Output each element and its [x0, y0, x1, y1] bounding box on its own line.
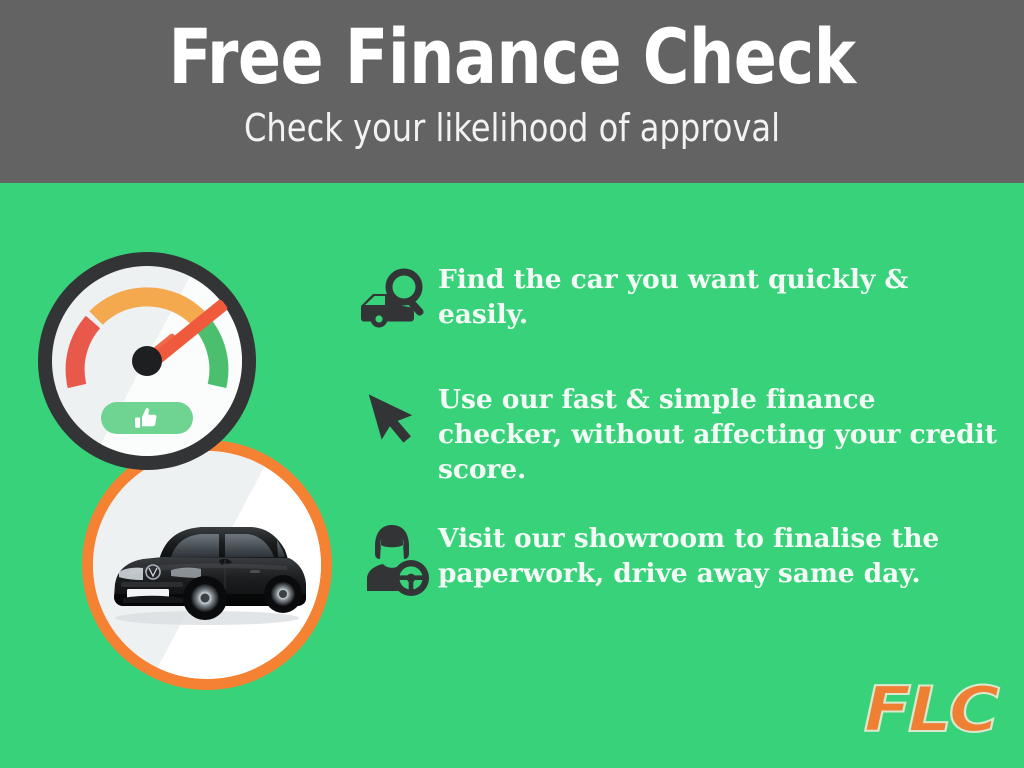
black-hatchback-photo	[101, 510, 313, 628]
feature-item-finance-checker: Use our fast & simple finance checker, w…	[352, 378, 1002, 487]
flc-logo: FLC	[863, 673, 996, 746]
page-title: Free Finance Check	[36, 0, 988, 100]
feature-list: Find the car you want quickly & easily. …	[352, 258, 1002, 637]
feature-text: Use our fast & simple finance checker, w…	[438, 378, 1002, 487]
car-photo-circle	[82, 440, 332, 690]
approval-likelihood-gauge	[38, 252, 256, 470]
feature-icon-wrap	[352, 258, 438, 348]
header-banner: Free Finance Check Check your likelihood…	[0, 0, 1024, 183]
feature-text: Find the car you want quickly & easily.	[438, 258, 1002, 332]
page-subtitle: Check your likelihood of approval	[31, 100, 994, 150]
feature-icon-wrap	[352, 378, 438, 468]
feature-item-showroom-visit: Visit our showroom to finalise the paper…	[352, 517, 1002, 607]
promo-poster: Free Finance Check Check your likelihood…	[0, 0, 1024, 768]
cursor-arrow-icon	[362, 382, 428, 452]
driver-steering-wheel-icon	[359, 521, 431, 597]
thumbs-up-icon	[134, 405, 160, 431]
approval-thumbs-up-badge	[101, 402, 193, 434]
car-photo-inner	[93, 451, 321, 679]
car-search-icon	[359, 262, 431, 334]
feature-text: Visit our showroom to finalise the paper…	[438, 517, 1002, 591]
feature-item-find-car: Find the car you want quickly & easily.	[352, 258, 1002, 348]
gauge-hub	[132, 346, 162, 376]
feature-icon-wrap	[352, 517, 438, 607]
